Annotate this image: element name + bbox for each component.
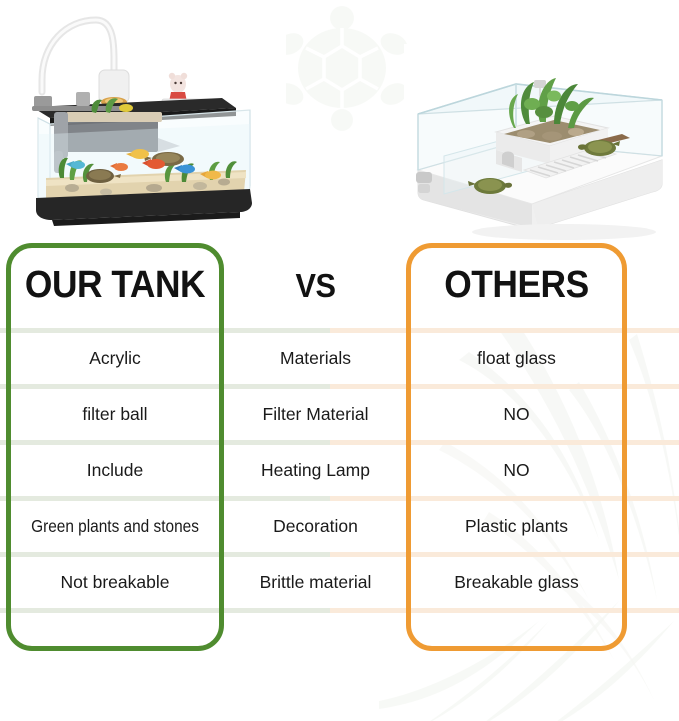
column-header-vs: VS	[234, 243, 397, 328]
table-row: Green plants and stones Decoration Plast…	[0, 501, 679, 552]
others-tank-product-image	[404, 44, 676, 240]
cell-others: Breakable glass	[408, 557, 625, 608]
our-tank-product-image	[14, 6, 286, 234]
cell-our-tank: Include	[8, 445, 222, 496]
cell-others: Plastic plants	[408, 501, 625, 552]
table-header-row: OUR TANK VS OTHERS	[0, 243, 679, 328]
cell-others: NO	[408, 389, 625, 440]
cell-feature: Materials	[228, 333, 403, 384]
row-separator	[0, 608, 679, 613]
table-row: Acrylic Materials float glass	[0, 333, 679, 384]
table-row: Not breakable Brittle material Breakable…	[0, 557, 679, 608]
table-row: Include Heating Lamp NO	[0, 445, 679, 496]
column-header-others: OTHERS	[416, 243, 618, 328]
cell-others: float glass	[408, 333, 625, 384]
cell-others: NO	[408, 445, 625, 496]
cell-feature: Filter Material	[228, 389, 403, 440]
column-header-our-tank: OUR TANK	[15, 243, 214, 328]
comparison-infographic: OUR TANK VS OTHERS Acrylic Materials flo…	[0, 0, 679, 721]
cell-our-tank: Acrylic	[8, 333, 222, 384]
comparison-table: OUR TANK VS OTHERS Acrylic Materials flo…	[0, 243, 679, 653]
cell-our-tank: filter ball	[8, 389, 222, 440]
cell-feature: Brittle material	[228, 557, 403, 608]
cell-feature: Heating Lamp	[228, 445, 403, 496]
cell-our-tank: Not breakable	[8, 557, 222, 608]
cell-feature: Decoration	[228, 501, 403, 552]
cell-our-tank: Green plants and stones	[21, 501, 209, 552]
table-row: filter ball Filter Material NO	[0, 389, 679, 440]
